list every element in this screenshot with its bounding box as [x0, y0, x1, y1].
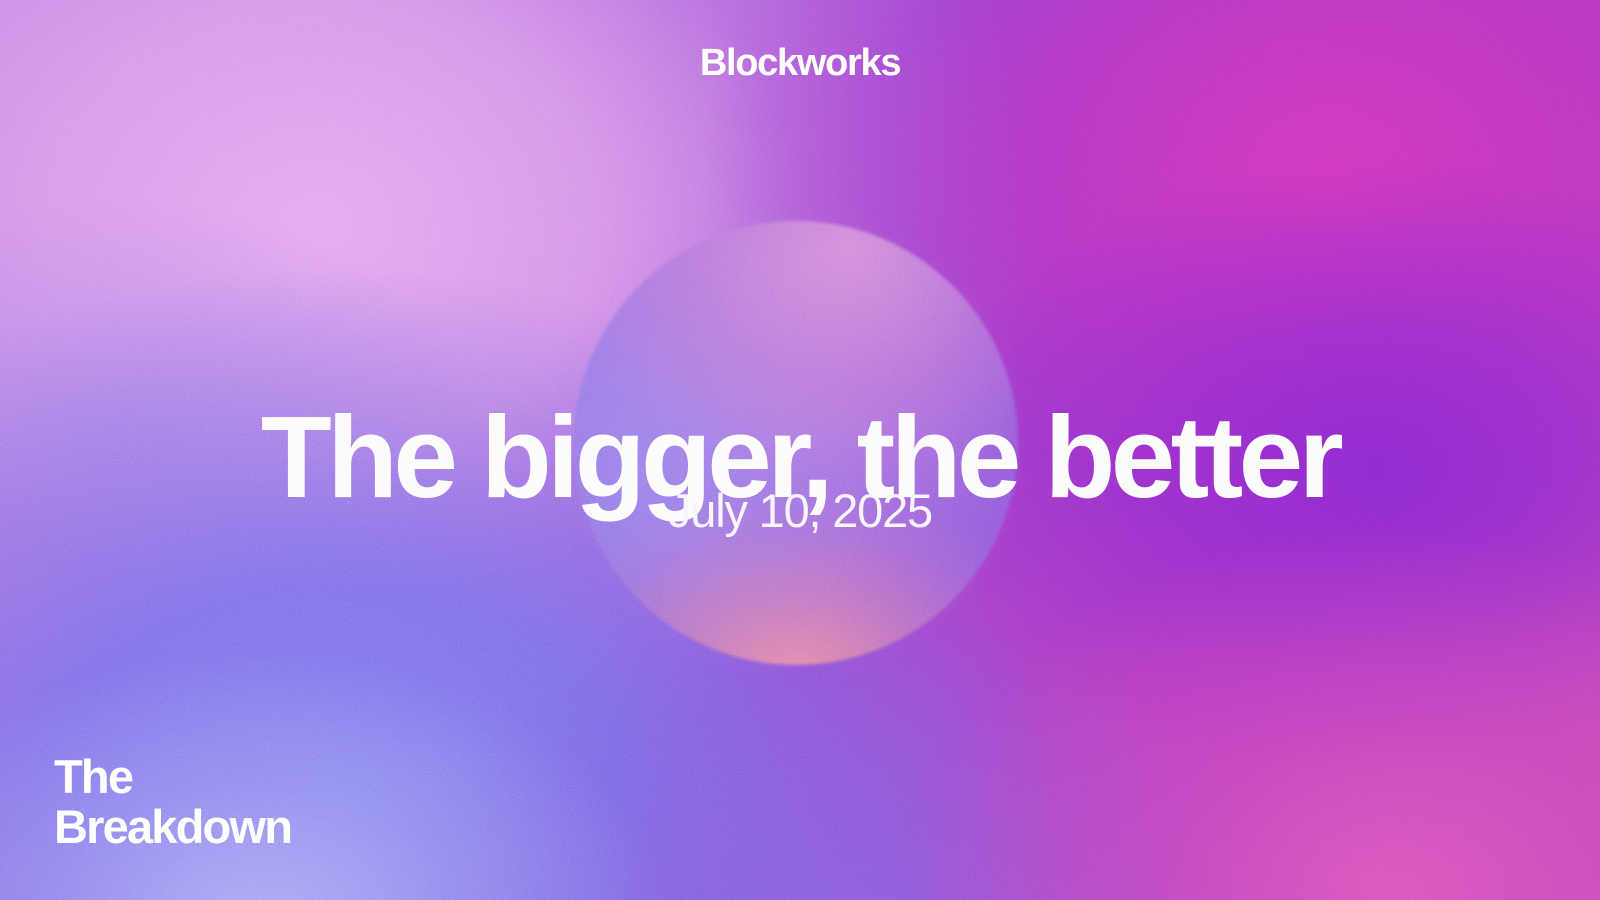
show-title-mark: The Breakdown — [54, 752, 291, 852]
show-title-line-1: The — [54, 752, 291, 802]
episode-date: July 10, 2025 — [0, 487, 1600, 534]
cover-graphic: Blockworks The bigger, the better July 1… — [0, 0, 1600, 900]
show-title-line-2: Breakdown — [54, 802, 291, 852]
blockworks-wordmark: Blockworks — [0, 44, 1600, 82]
